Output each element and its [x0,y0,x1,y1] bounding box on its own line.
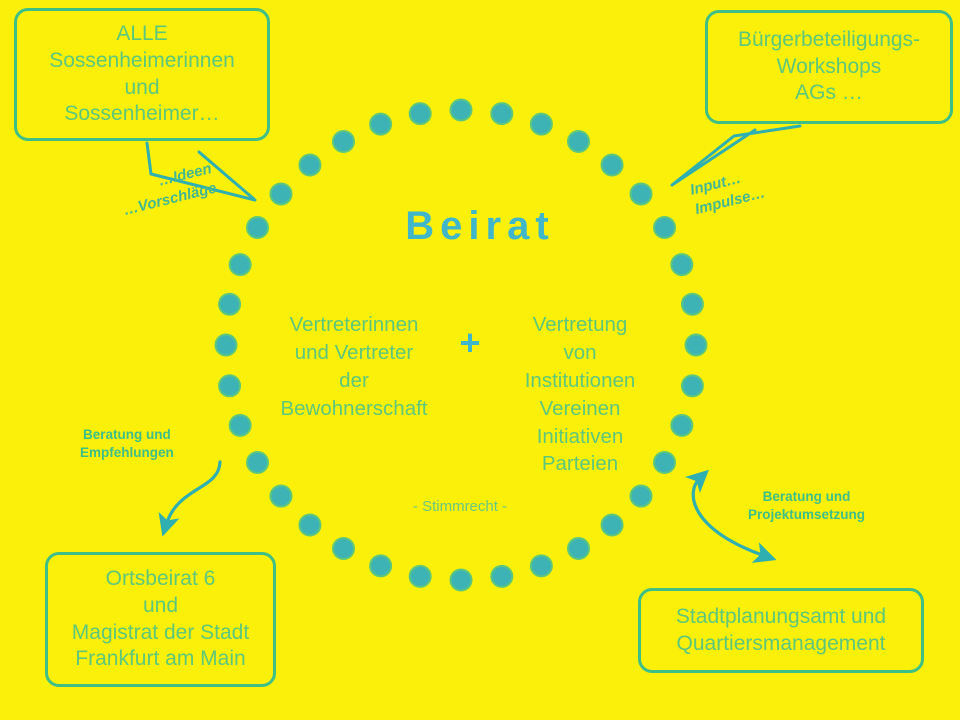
diagram-canvas: ALLE Sossenheimerinnen und Sossenheimer…… [0,0,960,720]
box-line: und [72,593,249,620]
center-line: Vereinen [490,395,670,423]
ring-dot [602,154,623,175]
ring-dot [219,294,240,315]
ring-dot [410,103,431,124]
ring-dot [631,486,652,507]
page-title-beirat: Beirat [0,204,960,249]
ring-dot [491,566,512,587]
bubble-line: Bürgerbeteiligungs- [738,27,920,54]
ring-dot [219,375,240,396]
ring-dot [568,538,589,559]
box-stadtplanungsamt-quartiersmanagement[interactable]: Stadtplanungsamt und Quartiersmanagement [638,588,924,673]
ring-dot [671,415,692,436]
ring-dot [451,100,472,121]
footnote-stimmrecht: - Stimmrecht - [330,498,590,515]
center-line: Vertretung [490,311,670,339]
ring-dot [531,114,552,135]
arrow-advice-recommendations [166,462,220,525]
ring-dot [370,555,391,576]
center-column-institutionen: Vertretung von Institutionen Vereinen In… [490,311,670,478]
flow-label-line: Beratung und [748,488,865,506]
ring-dot [631,183,652,204]
center-line: von [490,339,670,367]
box-stadtplanungsamt-quartiersmanagement-text: Stadtplanungsamt und Quartiersmanagement [676,604,886,658]
ring-dot [333,538,354,559]
bubble-buergerbeteiligungs-workshops[interactable]: Bürgerbeteiligungs- Workshops AGs … [705,10,953,124]
bubble-alle-sossenheimer-text: ALLE Sossenheimerinnen und Sossenheimer… [49,21,235,129]
flow-label-beratung-projektumsetzung: Beratung und Projektumsetzung [748,488,865,524]
center-line: Initiativen [490,423,670,451]
box-ortsbeirat-magistrat-text: Ortsbeirat 6 und Magistrat der Stadt Fra… [72,566,249,674]
ring-dot [531,555,552,576]
ring-dot [247,452,268,473]
ring-dot [686,335,707,356]
ring-dot [451,570,472,591]
ring-dot [568,131,589,152]
ring-dot [491,103,512,124]
ring-dot [216,335,237,356]
ring-dot [410,566,431,587]
ring-dot [270,486,291,507]
ring-dot [299,515,320,536]
flow-label-beratung-empfehlungen: Beratung und Empfehlungen [80,426,174,462]
box-ortsbeirat-magistrat[interactable]: Ortsbeirat 6 und Magistrat der Stadt Fra… [45,552,276,687]
flow-label-line: Projektumsetzung [748,506,865,524]
flow-label-line: Empfehlungen [80,444,174,462]
center-line: Parteien [490,450,670,478]
ring-dot [682,294,703,315]
bubble-line: ALLE [49,21,235,48]
box-line: Magistrat der Stadt [72,620,249,647]
bubble-line: und [49,75,235,102]
box-line: Quartiersmanagement [676,631,886,658]
box-line: Ortsbeirat 6 [72,566,249,593]
bubble-line: AGs … [738,80,920,107]
ring-dot [299,154,320,175]
ring-dot [230,415,251,436]
center-line: Bewohnerschaft [268,395,440,423]
ring-dot [270,183,291,204]
center-line: Vertreterinnen [268,311,440,339]
ring-dot [333,131,354,152]
center-line: der [268,367,440,395]
ring-dot [370,114,391,135]
center-line: und Vertreter [268,339,440,367]
bubble-alle-sossenheimer[interactable]: ALLE Sossenheimerinnen und Sossenheimer… [14,8,270,141]
ring-dot [230,254,251,275]
box-line: Frankfurt am Main [72,646,249,673]
box-line: Stadtplanungsamt und [676,604,886,631]
bubble-buergerbeteiligungs-workshops-text: Bürgerbeteiligungs- Workshops AGs … [738,27,920,108]
ring-dot [671,254,692,275]
center-column-bewohnerschaft: Vertreterinnen und Vertreter der Bewohne… [268,311,440,423]
center-line: Institutionen [490,367,670,395]
bubble-line: Sossenheimer… [49,101,235,128]
flow-label-line: Beratung und [80,426,174,444]
ring-dot [682,375,703,396]
bubble-line: Workshops [738,54,920,81]
ring-dot [602,515,623,536]
bubble-line: Sossenheimerinnen [49,48,235,75]
